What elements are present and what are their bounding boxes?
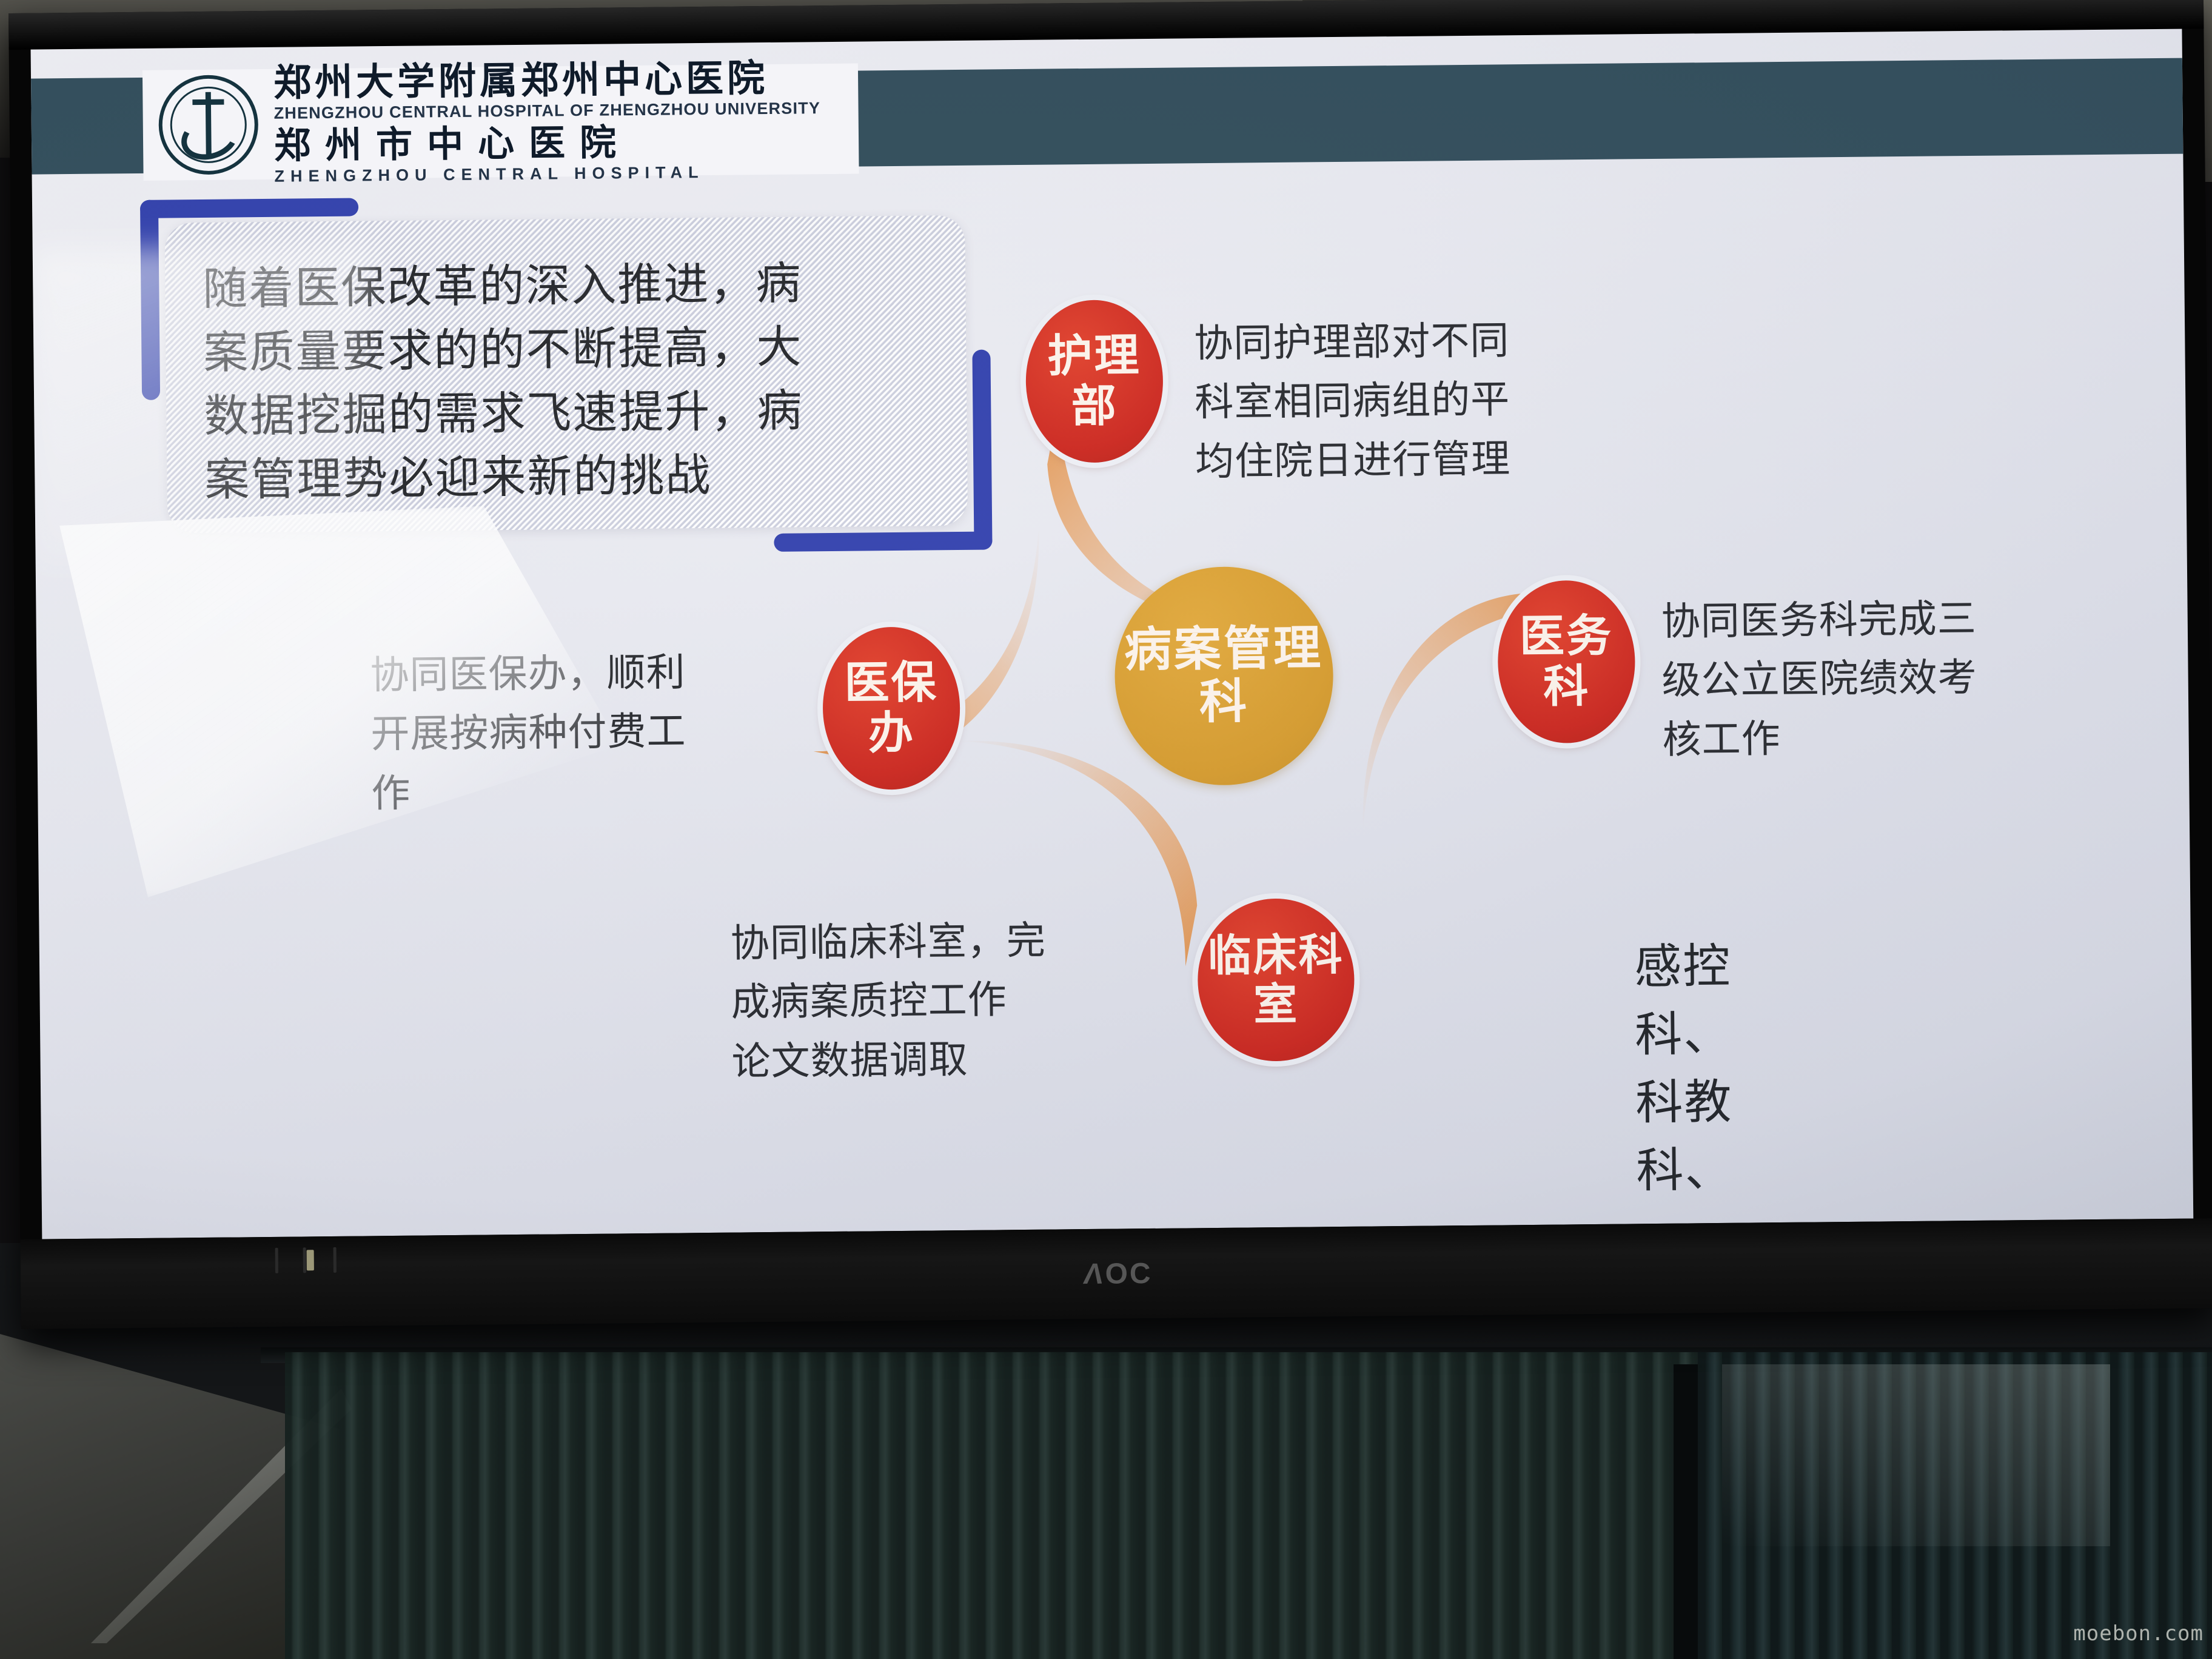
- curtain-middle: [952, 1352, 1698, 1659]
- diagram-node-insurance-office[interactable]: 医保办: [822, 626, 961, 790]
- diagram-desc-medical-affairs: 协同医务科完成三 级公立医院绩效考 核工作: [1661, 589, 2117, 770]
- diagram-node-nursing[interactable]: 护理部: [1025, 300, 1164, 463]
- monitor: 郑州大学附属郑州中心医院 ZHENGZHOU CENTRAL HOSPITAL …: [8, 0, 2212, 1329]
- diagram-node-medical-affairs[interactable]: 医务科: [1497, 580, 1636, 743]
- diagram-desc-nursing: 协同护理部对不同 科室相同病组的平 均住院日进行管理: [1194, 310, 1632, 492]
- diagram-center-node[interactable]: 病案管理科: [1114, 566, 1334, 786]
- photo-scene: 郑州大学附属郑州中心医院 ZHENGZHOU CENTRAL HOSPITAL …: [0, 0, 2212, 1659]
- curtain-left: [285, 1352, 952, 1659]
- image-watermark: moebon.com: [2073, 1621, 2204, 1646]
- diagram-node-clinical-department[interactable]: 临床科室: [1197, 898, 1355, 1062]
- hospital-logo-text: 郑州大学附属郑州中心医院 ZHENGZHOU CENTRAL HOSPITAL …: [273, 59, 821, 185]
- diagram-extra-note: 感控科、科教科、: [1634, 928, 1734, 1201]
- logo-cn-line2: 郑州市中心医院: [274, 122, 821, 164]
- logo-en-line2: ZHENGZHOU CENTRAL HOSPITAL: [274, 163, 821, 185]
- hospital-logo-card: 郑州大学附属郑州中心医院 ZHENGZHOU CENTRAL HOSPITAL …: [142, 64, 859, 181]
- presentation-slide: 郑州大学附属郑州中心医院 ZHENGZHOU CENTRAL HOSPITAL …: [31, 29, 2194, 1239]
- logo-cn-line1: 郑州大学附属郑州中心医院: [273, 59, 820, 102]
- window-light: [1722, 1364, 2110, 1546]
- screen-glare-secondary: [33, 246, 375, 565]
- aoc-brand-logo: ΛAOCOC: [1084, 1257, 1153, 1291]
- diagram-desc-clinical-department: 协同临床科室，完 成病案质控工作 论文数据调取: [730, 911, 1144, 1091]
- hospital-seal-icon: [158, 75, 259, 175]
- monitor-buttons[interactable]: [275, 1247, 421, 1275]
- pinwheel-diagram: 病案管理科 护理部 医务科 医保办 临床科室 协同护理部对不同 科室相同病组的平…: [834, 294, 1721, 1151]
- corner-bracket-top-left-horizontal: [140, 198, 358, 218]
- logo-en-line1: ZHENGZHOU CENTRAL HOSPITAL OF ZHENGZHOU …: [273, 100, 820, 122]
- power-led-indicator: [307, 1250, 314, 1270]
- diagram-desc-insurance-office: 协同医保办，顺利 开展按病种付费工 作: [370, 643, 796, 824]
